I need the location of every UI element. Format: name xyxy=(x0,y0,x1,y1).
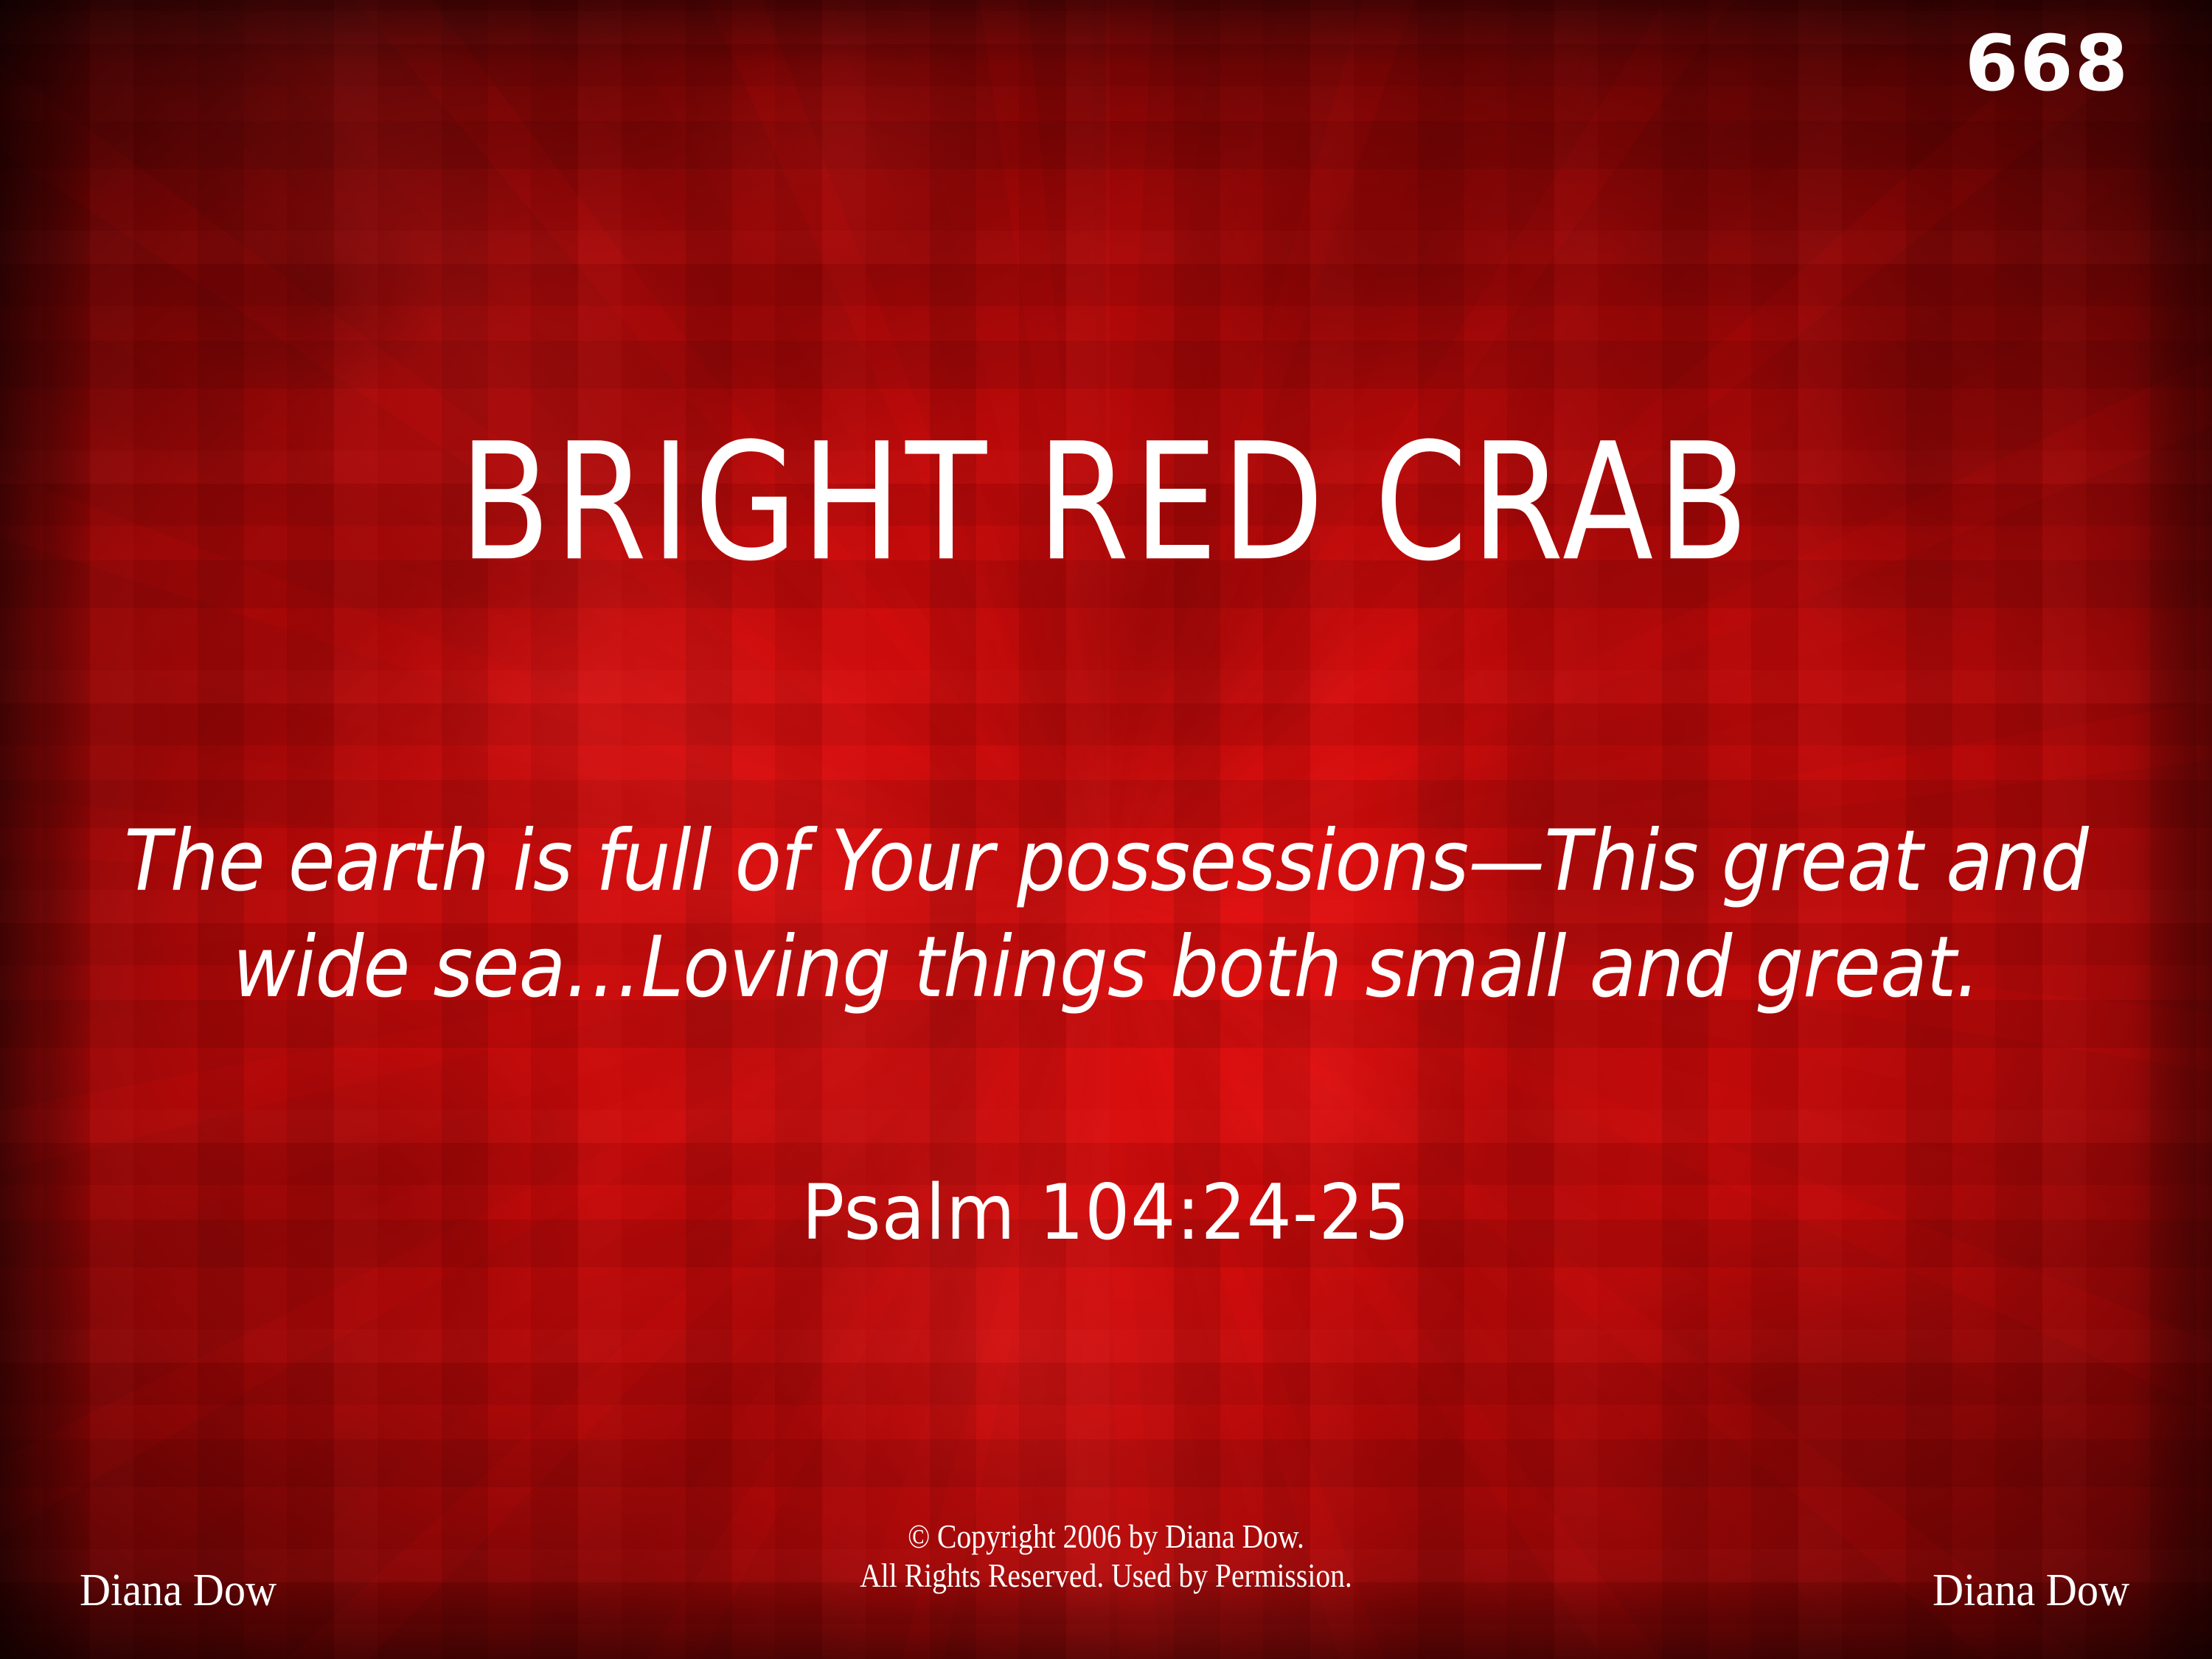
scripture-verse: The earth is full of Your possessions—Th… xyxy=(111,808,2101,1020)
page-title: BRIGHT RED CRAB xyxy=(88,419,2124,588)
verse-line-3: and great. xyxy=(1590,918,1980,1017)
copyright-line-1: © Copyright 2006 by Diana Dow. xyxy=(133,1517,2079,1557)
verse-line-1: The earth is full of Your possessions—Th… xyxy=(124,811,1697,910)
copyright-line-2: All Rights Reserved. Used by Permission. xyxy=(133,1557,2079,1596)
signature-bottom-right: Diana Dow xyxy=(1933,1568,2129,1613)
copyright-notice: © Copyright 2006 by Diana Dow. All Right… xyxy=(133,1517,2079,1596)
slide-canvas: 668 BRIGHT RED CRAB The earth is full of… xyxy=(0,0,2212,1659)
slide-content: 668 BRIGHT RED CRAB The earth is full of… xyxy=(0,0,2212,1659)
signature-bottom-left: Diana Dow xyxy=(80,1568,276,1613)
scripture-reference: Psalm 104:24-25 xyxy=(0,1171,2212,1255)
page-number: 668 xyxy=(1965,25,2129,102)
